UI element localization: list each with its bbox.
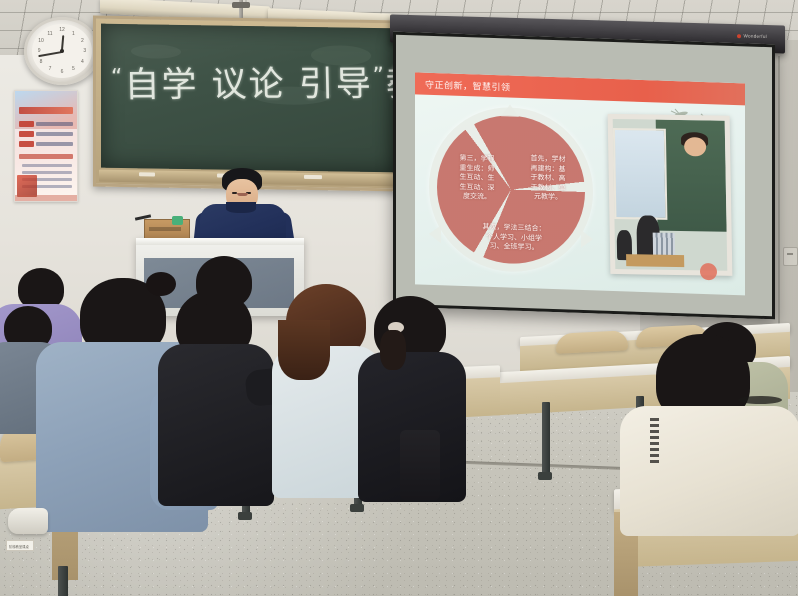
screen-brand-label: Wonderful	[737, 33, 767, 39]
white-sneaker	[8, 508, 48, 534]
screen-brand-text: Wonderful	[743, 33, 767, 39]
desk-leg	[542, 402, 550, 476]
clock-numeral-8: 8	[40, 59, 43, 65]
photo-whiteboard	[613, 128, 668, 220]
ponytail	[380, 330, 406, 370]
cycle-diagram: 首先，学材 再建构：基 于教材、高 于教材、单 元教学。 第三，学程 重生成：师…	[427, 103, 595, 277]
segment-text-first: 首先，学材 再建构：基 于教材、高 于教材、单 元教学。	[519, 154, 577, 203]
student-body	[158, 344, 274, 506]
student-black-hoodie	[186, 256, 264, 336]
screen-mount-bracket	[232, 2, 250, 8]
segment-third-line-5: 度交流。	[449, 192, 505, 203]
core-values-poster	[14, 90, 78, 202]
projection-screen: 守正创新，智慧引领	[393, 32, 775, 320]
chair-back	[556, 330, 628, 354]
desk-id-tag-text: 阶梯教室课桌	[9, 544, 29, 549]
cycle-arrow-top-icon	[501, 104, 519, 117]
student-necklace	[738, 396, 782, 404]
poster-row-2	[19, 130, 73, 137]
clock-numeral-2: 2	[81, 38, 84, 44]
poster-row-tag	[19, 121, 34, 127]
photo-content	[613, 119, 728, 271]
hair-bun	[146, 272, 176, 296]
segment-text-second: 其次，学法三结合： 个人学习、小组学 习、全班学习。	[467, 222, 561, 254]
student-cream-jacket	[620, 334, 796, 524]
blackboard-handwriting: “自学 议论 引导”教学法	[110, 55, 388, 107]
poster-title-bar	[19, 107, 73, 114]
blackboard-open-quote: “	[111, 65, 125, 90]
poster-row-text	[36, 132, 73, 136]
clock-numeral-1: 1	[72, 31, 75, 37]
photo-desk	[626, 254, 684, 267]
desk-leg	[58, 566, 68, 596]
inset-classroom-photo	[608, 114, 733, 276]
power-outlet	[783, 247, 798, 266]
poster-body-line	[22, 164, 72, 167]
blackboard-frame: “自学 议论 引导”教学法	[93, 16, 404, 192]
clock-numeral-3: 3	[83, 48, 86, 54]
student-brown-hair-strand	[278, 320, 330, 380]
presentation-slide: 守正创新，智慧引领	[415, 72, 745, 295]
photo-teacher-face	[684, 137, 707, 157]
clock-minute-hand	[38, 51, 62, 57]
student-cream-sleeve-text	[650, 418, 659, 464]
student-body	[620, 406, 798, 536]
blackboard-close-quote: ”	[372, 64, 386, 89]
clock-numeral-11: 11	[47, 31, 52, 37]
blackboard-phrase-2: 议论	[211, 65, 286, 105]
poster-row-1	[19, 120, 73, 127]
desk-foot	[350, 504, 364, 512]
green-eraser	[172, 216, 183, 225]
clock-numeral-6: 6	[61, 69, 64, 75]
desk-foot	[238, 512, 252, 520]
clock-center-pin	[60, 49, 64, 53]
poster-flag-graphic	[17, 175, 37, 197]
lecturer-collar	[226, 202, 256, 213]
segment-text-third: 第三，学程 重生成：师 生互动、生 生互动、深 度交流。	[449, 154, 505, 203]
lecturer-mouth	[237, 193, 248, 196]
clock-numeral-10: 10	[38, 38, 44, 44]
desk-id-tag: 阶梯教室课桌	[6, 540, 34, 551]
cycle-arrow-right-icon	[581, 230, 593, 248]
blackboard-phrase-3: 引导	[298, 64, 373, 104]
slide-title-text: 守正创新，智慧引领	[425, 78, 511, 94]
desk-foot	[538, 472, 552, 480]
cycle-arrow-left-icon	[429, 225, 441, 243]
poster-body-line	[22, 171, 72, 174]
segment-first-line-5: 元教学。	[519, 192, 577, 203]
poster-row-tag	[19, 131, 34, 137]
blackboard-phrase-1: 自学	[124, 65, 199, 105]
wall-clock: 12 3 6 9 1 2 4 5 7 8 10 11	[24, 17, 100, 85]
clock-numeral-12: 12	[59, 27, 65, 33]
poster-subtitle-bar	[19, 154, 73, 159]
slide-accent-dot	[700, 263, 717, 281]
chalk-box-label	[149, 227, 181, 231]
poster-row-text	[36, 122, 73, 126]
clock-face: 12 3 6 9 1 2 4 5 7 8 10 11	[32, 24, 92, 78]
clock-numeral-5: 5	[72, 66, 75, 72]
poster-row-tag	[19, 141, 34, 147]
poster-row-text	[36, 142, 73, 146]
student-head	[196, 256, 252, 308]
clock-numeral-9: 9	[38, 48, 41, 54]
clock-numeral-7: 7	[49, 66, 52, 72]
brand-dot-icon	[737, 34, 741, 38]
wall-corner-seam	[778, 56, 780, 356]
poster-footer-bar	[15, 195, 77, 201]
podium-top-edge	[136, 238, 304, 245]
poster-row-3	[19, 140, 73, 147]
black-backpack	[400, 430, 440, 500]
clock-numeral-4: 4	[81, 59, 84, 65]
blackboard-surface: “自学 议论 引导”教学法	[101, 24, 396, 173]
classroom-scene: 12 3 6 9 1 2 4 5 7 8 10 11	[0, 0, 798, 596]
